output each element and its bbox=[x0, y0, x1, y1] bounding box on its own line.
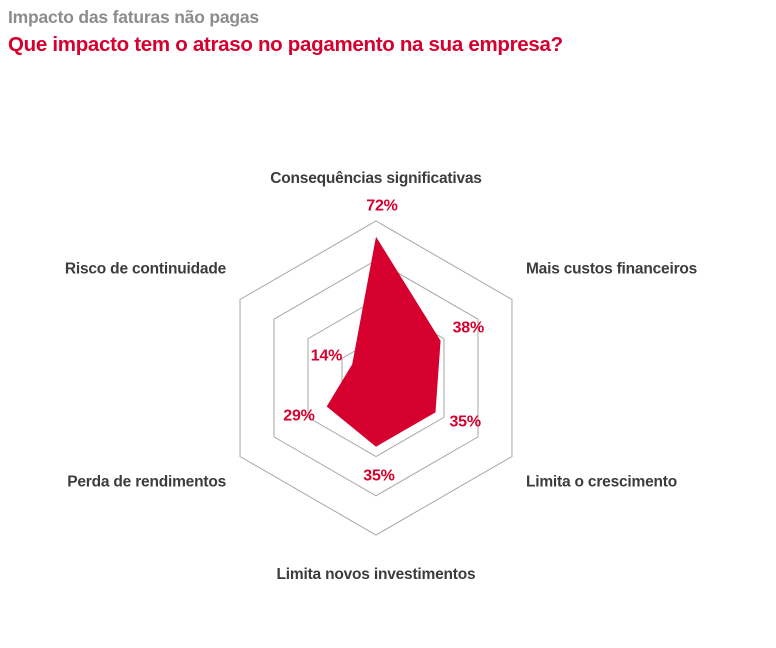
value-label-3: 35% bbox=[363, 468, 394, 485]
radar-series bbox=[327, 237, 441, 447]
axis-label-2: Limita o crescimento bbox=[526, 474, 677, 491]
radar-chart: Consequências significativasMais custos … bbox=[0, 0, 776, 648]
axis-label-0: Consequências significativas bbox=[270, 170, 481, 187]
axis-label-1: Mais custos financeiros bbox=[526, 261, 697, 278]
axis-label-4: Perda de rendimentos bbox=[67, 474, 226, 491]
value-label-4: 29% bbox=[283, 407, 314, 424]
value-label-1: 38% bbox=[453, 320, 484, 337]
radar-chart-svg: Consequências significativasMais custos … bbox=[0, 0, 776, 648]
axis-label-3: Limita novos investimentos bbox=[277, 566, 476, 583]
series-polygon bbox=[327, 237, 441, 447]
value-label-2: 35% bbox=[449, 413, 480, 430]
axis-label-5: Risco de continuidade bbox=[65, 261, 227, 278]
value-label-5: 14% bbox=[311, 347, 342, 364]
value-label-0: 72% bbox=[366, 198, 397, 215]
